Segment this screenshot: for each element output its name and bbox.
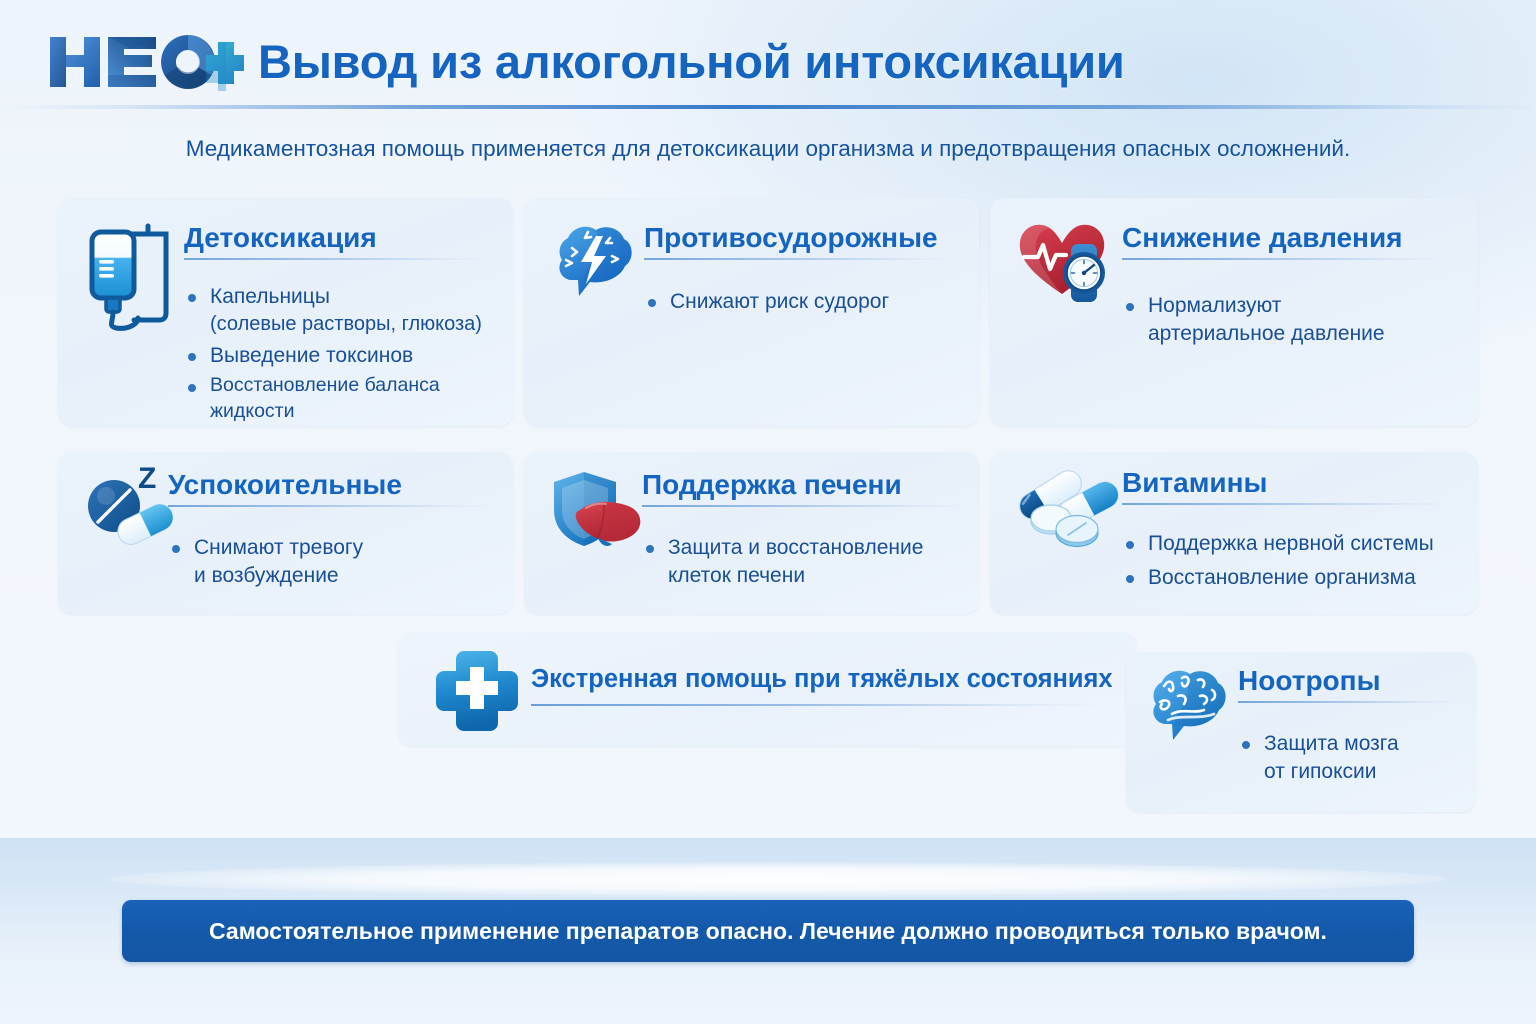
bullet-subtext: от гипоксии (1264, 758, 1468, 786)
bullet-list-sedatives: Снимают тревогу и возбуждение (168, 534, 498, 594)
bullet-list-nootropics: Защита мозга от гипоксии (1238, 730, 1468, 790)
card-head-nootropics: Ноотропы (1238, 666, 1460, 703)
bullet-text: Капельницы (210, 285, 330, 308)
card-head-detoxification: Детоксикация (184, 223, 489, 260)
bullet-dot (172, 545, 180, 553)
emergency-banner-underline (531, 704, 1106, 706)
title-underline (184, 258, 489, 260)
bullet-text: Восстановление баланса жидкости (210, 374, 440, 422)
liver-shield-icon (546, 466, 650, 562)
bullet-list-vitamins: Поддержка нервной системы Восстановление… (1122, 530, 1462, 596)
emergency-help-banner[interactable]: Экстренная помощь при тяжёлых состояниях (398, 632, 1136, 746)
bullet-dot (188, 294, 196, 302)
list-item: Защита и восстановление клеток печени (642, 534, 972, 590)
bullet-text: Поддержка нервной системы (1148, 532, 1434, 555)
warning-text: Самостоятельное применение препаратов оп… (209, 918, 1327, 945)
iv-drip-icon (82, 218, 192, 333)
card-blood-pressure[interactable]: Снижение давления Нормализуют артериальн… (990, 198, 1478, 426)
subtitle: Медикаментозная помощь применяется для д… (0, 136, 1536, 162)
title-underline (1122, 503, 1452, 505)
bullet-list-blood-pressure: Нормализуют артериальное давление (1122, 292, 1452, 352)
bullet-subtext: (солевые растворы, глюкоза) (210, 311, 494, 338)
bullet-dot (188, 384, 196, 392)
card-title: Витамины (1122, 468, 1452, 497)
list-item: Восстановление баланса жидкости (184, 373, 494, 425)
bullet-dot (646, 545, 654, 553)
bullet-subtext: клеток печени (668, 562, 972, 590)
bullet-dot (1242, 741, 1250, 749)
list-item: Снижают риск судорог (644, 288, 954, 316)
list-item: Восстановление организма (1122, 564, 1462, 592)
bullet-list-detoxification: Капельницы (солевые растворы, глюкоза) В… (184, 283, 494, 429)
card-detoxification[interactable]: Детоксикация Капельницы (солевые раствор… (58, 198, 513, 426)
pills-capsules-icon (1004, 464, 1124, 554)
bullet-text: Восстановление организма (1148, 566, 1416, 589)
header: Вывод из алкогольной интоксикации (0, 0, 1536, 112)
card-nootropics[interactable]: Ноотропы Защита мозга от гипоксии (1126, 652, 1476, 812)
card-title: Снижение давления (1122, 223, 1447, 252)
bullet-list-liver-support: Защита и восстановление клеток печени (642, 534, 972, 594)
neo-plus-logo (48, 34, 244, 90)
title-underline (642, 505, 967, 507)
bullet-subtext: артериальное давление (1148, 320, 1452, 348)
bullet-dot (1126, 303, 1134, 311)
card-title: Поддержка печени (642, 470, 967, 499)
page-title: Вывод из алкогольной интоксикации (258, 34, 1125, 89)
header-divider (0, 105, 1536, 109)
card-sedatives[interactable]: Z Успокоительные Снимают тревогу и возбу… (58, 452, 513, 614)
list-item: Выведение токсинов (184, 342, 494, 370)
card-head-sedatives: Успокоительные (168, 470, 493, 507)
list-item: Капельницы (солевые растворы, глюкоза) (184, 283, 494, 338)
svg-text:Z: Z (138, 462, 156, 495)
card-liver-support[interactable]: Поддержка печени Защита и восстановление… (524, 452, 979, 614)
list-item: Снимают тревогу и возбуждение (168, 534, 498, 590)
list-item: Нормализуют артериальное давление (1122, 292, 1452, 348)
card-title: Противосудорожные (644, 223, 954, 252)
title-underline (644, 258, 954, 260)
bullet-text: Нормализуют (1148, 294, 1281, 317)
card-title: Детоксикация (184, 223, 489, 252)
bullet-text: Защита и восстановление (668, 536, 923, 559)
bullet-text: Защита мозга (1264, 732, 1399, 755)
card-head-liver-support: Поддержка печени (642, 470, 967, 507)
heart-pressure-gauge-icon (1014, 216, 1118, 316)
bullet-dot (1126, 541, 1134, 549)
card-title: Ноотропы (1238, 666, 1460, 695)
emergency-banner-title: Экстренная помощь при тяжёлых состояниях (531, 665, 1113, 694)
card-head-vitamins: Витамины (1122, 468, 1452, 505)
bullet-subtext: и возбуждение (194, 562, 498, 590)
card-anticonvulsants[interactable]: Противосудорожные Снижают риск судорог (524, 198, 979, 426)
bullet-text: Выведение токсинов (210, 344, 413, 367)
bullet-dot (648, 299, 656, 307)
footer-highlight-arc (110, 862, 1446, 896)
title-underline (1122, 258, 1447, 260)
card-vitamins[interactable]: Витамины Поддержка нервной системы Восст… (990, 452, 1478, 614)
medical-cross-icon (436, 647, 518, 731)
bullet-dot (1126, 575, 1134, 583)
title-underline (168, 505, 493, 507)
brain-icon (1142, 662, 1238, 750)
bullet-text: Снижают риск судорог (670, 290, 889, 313)
card-head-blood-pressure: Снижение давления (1122, 223, 1447, 260)
card-head-anticonvulsants: Противосудорожные (644, 223, 954, 260)
brain-lightning-icon (548, 218, 648, 310)
infographic-page: Вывод из алкогольной интоксикации Медика… (0, 0, 1536, 1024)
bullet-text: Снимают тревогу (194, 536, 363, 559)
warning-bar: Самостоятельное применение препаратов оп… (122, 900, 1414, 962)
list-item: Защита мозга от гипоксии (1238, 730, 1468, 786)
bullet-list-anticonvulsants: Снижают риск судорог (644, 288, 954, 320)
bullet-dot (188, 353, 196, 361)
list-item: Поддержка нервной системы (1122, 530, 1462, 558)
title-underline (1238, 701, 1460, 703)
card-title: Успокоительные (168, 470, 493, 499)
